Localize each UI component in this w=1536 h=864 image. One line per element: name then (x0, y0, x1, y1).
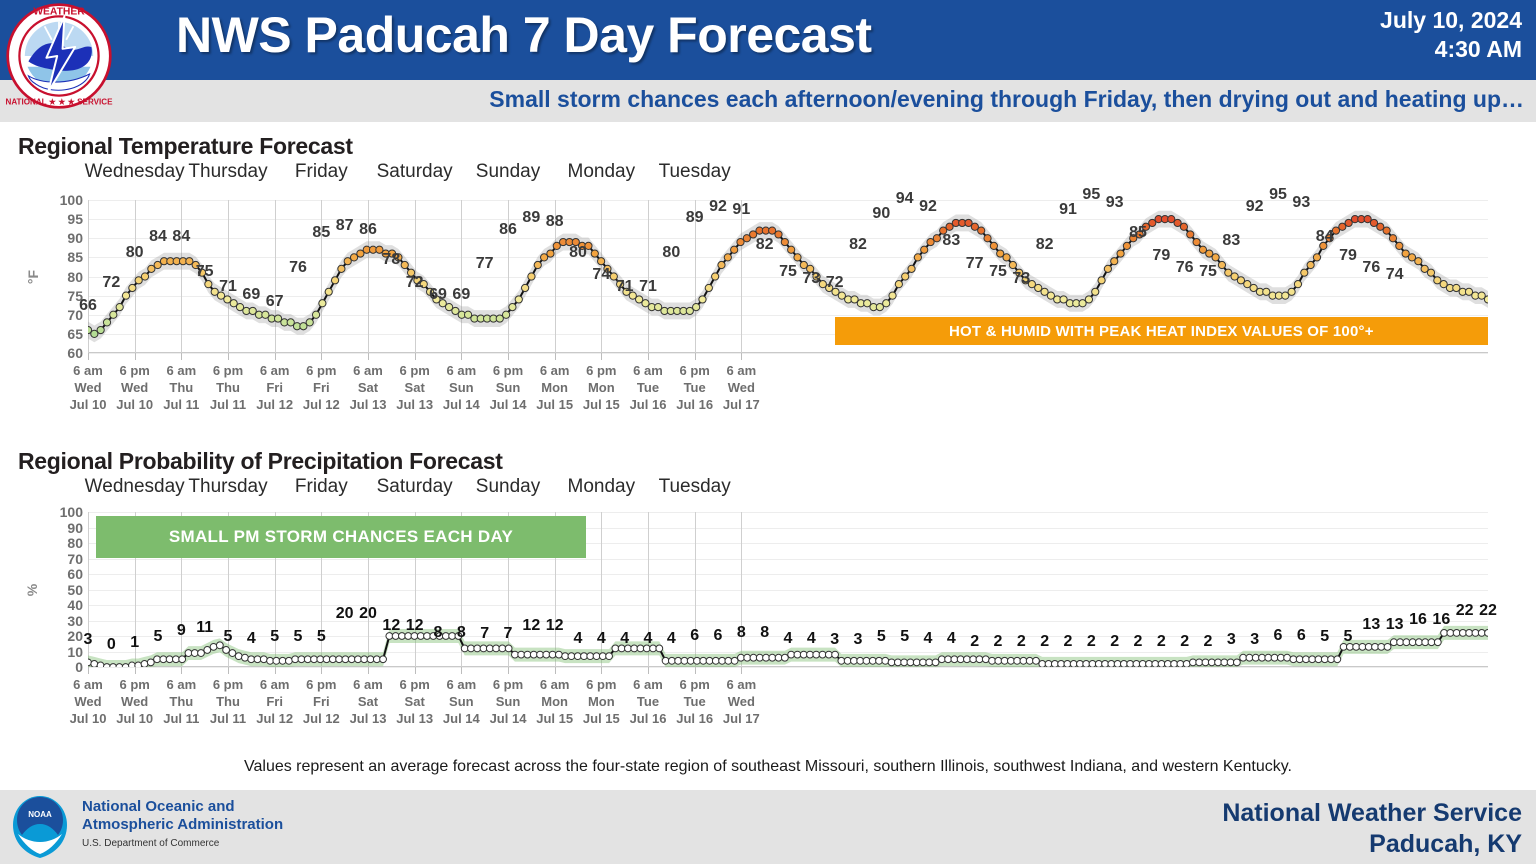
data-point (1098, 277, 1105, 284)
x-axis-tick-mark (181, 353, 182, 360)
data-point (229, 650, 236, 657)
data-point-label: 3 (830, 631, 839, 649)
data-point-label: 94 (896, 190, 914, 208)
data-point (1218, 261, 1225, 268)
x-tick-date: Jul 12 (256, 396, 293, 413)
x-axis-tick-mark (181, 667, 182, 674)
x-tick-date: Jul 17 (723, 396, 760, 413)
footnote: Values represent an average forecast acr… (0, 758, 1536, 776)
data-point-label: 91 (1059, 201, 1077, 219)
data-point-label: 69 (429, 286, 447, 304)
data-point-label: 76 (289, 259, 307, 277)
x-tick-day: Mon (536, 379, 573, 396)
data-point-label: 1 (130, 634, 139, 652)
data-point (242, 654, 249, 661)
data-point (204, 647, 211, 654)
data-point (731, 246, 738, 253)
x-tick-time: 6 pm (396, 362, 433, 379)
x-tick-date: Jul 15 (536, 396, 573, 413)
data-point-label: 89 (686, 209, 704, 227)
x-axis-tick-label: 6 pmSunJul 14 (490, 362, 527, 413)
data-point (528, 273, 535, 280)
data-point (116, 664, 123, 667)
y-axis-tick: 100 (60, 192, 83, 208)
x-tick-time: 6 pm (116, 676, 153, 693)
data-point (1070, 661, 1077, 668)
heat-advisory-banner: HOT & HUMID WITH PEAK HEAT INDEX VALUES … (835, 317, 1488, 345)
x-tick-time: 6 am (163, 676, 199, 693)
day-label-wednesday: Wednesday (85, 161, 185, 183)
data-point (1484, 296, 1488, 303)
data-point-label: 85 (1129, 224, 1147, 242)
data-point-label: 8 (760, 624, 769, 642)
data-point-label: 77 (966, 255, 984, 273)
x-tick-day: Mon (583, 379, 620, 396)
data-point (216, 642, 223, 649)
data-point-label: 5 (294, 628, 303, 646)
data-point-label: 92 (919, 198, 937, 216)
data-point-label: 83 (942, 232, 960, 250)
data-point (982, 656, 989, 663)
data-point-label: 87 (336, 217, 354, 235)
data-point (110, 664, 117, 667)
data-point (1415, 258, 1422, 265)
x-axis-tick-mark (601, 667, 602, 674)
x-axis-tick-mark (415, 353, 416, 360)
data-point (103, 664, 110, 667)
day-label-sunday: Sunday (476, 476, 540, 498)
y-axis-unit-label: % (24, 583, 40, 595)
data-point (122, 664, 129, 667)
data-point (555, 651, 562, 658)
data-point (984, 235, 991, 242)
x-axis-tick-mark (695, 667, 696, 674)
data-point-label: 20 (359, 605, 377, 623)
x-tick-day: Sat (396, 693, 433, 710)
x-tick-date: Jul 14 (443, 710, 480, 727)
data-point (1092, 288, 1099, 295)
data-point-label: 2 (1204, 633, 1213, 651)
x-tick-day: Wed (116, 693, 153, 710)
data-point (1102, 661, 1109, 668)
data-point-label: 89 (522, 209, 540, 227)
data-point (1111, 258, 1118, 265)
data-point-label: 16 (1409, 611, 1427, 629)
x-tick-date: Jul 11 (210, 710, 246, 727)
data-point-label: 4 (247, 630, 256, 648)
day-label-friday: Friday (295, 476, 348, 498)
nws-office-line-2: Paducah, KY (1222, 829, 1522, 860)
x-axis-tick-mark (321, 667, 322, 674)
x-tick-date: Jul 15 (536, 710, 573, 727)
x-tick-day: Tue (676, 379, 713, 396)
data-point (223, 647, 230, 654)
x-axis-tick-label: 6 amSunJul 14 (443, 362, 480, 413)
data-point (978, 227, 985, 234)
data-point-label: 74 (592, 266, 610, 284)
data-point (1313, 254, 1320, 261)
data-point-label: 92 (1246, 198, 1264, 216)
data-point-label: 86 (499, 221, 517, 239)
data-point-label: 5 (224, 628, 233, 646)
data-point (914, 254, 921, 261)
temperature-chart-title: Regional Temperature Forecast (18, 133, 353, 160)
x-axis-tick-label: 6 amSunJul 14 (443, 676, 480, 727)
day-label-monday: Monday (568, 161, 636, 183)
y-axis-tick: 85 (67, 249, 83, 265)
precipitation-chart-title: Regional Probability of Precipitation Fo… (18, 448, 503, 475)
data-point-label: 72 (826, 274, 844, 292)
data-point-label: 80 (569, 244, 587, 262)
x-axis-tick-label: 6 amWedJul 17 (723, 676, 760, 727)
x-axis-tick-label: 6 amTueJul 16 (630, 362, 667, 413)
data-point (1123, 242, 1130, 249)
x-tick-date: Jul 17 (723, 710, 760, 727)
data-point-label: 5 (154, 628, 163, 646)
data-point (135, 662, 142, 667)
y-axis-tick: 30 (67, 613, 83, 629)
data-point-label: 22 (1456, 602, 1474, 620)
data-point-label: 78 (382, 251, 400, 269)
y-axis-tick: 90 (67, 230, 83, 246)
data-point-label: 69 (242, 286, 260, 304)
x-tick-day: Sat (350, 379, 387, 396)
data-point-label: 93 (1292, 194, 1310, 212)
x-axis-tick-label: 6 amThuJul 11 (163, 676, 199, 727)
x-tick-date: Jul 13 (350, 396, 387, 413)
day-label-monday: Monday (568, 476, 636, 498)
data-point-label: 16 (1432, 611, 1450, 629)
data-point (1396, 242, 1403, 249)
data-point (509, 304, 516, 311)
data-point-label: 79 (1339, 247, 1357, 265)
noaa-line-1: National Oceanic and (82, 798, 283, 816)
x-tick-date: Jul 16 (676, 710, 713, 727)
data-point (775, 231, 782, 238)
data-point (515, 296, 522, 303)
data-point-label: 3 (854, 631, 863, 649)
x-tick-time: 6 am (723, 676, 760, 693)
data-point (198, 650, 205, 657)
x-tick-day: Sun (490, 693, 527, 710)
y-axis-tick: 95 (67, 211, 83, 227)
data-point-label: 71 (219, 278, 237, 296)
data-point (331, 277, 338, 284)
data-point-label: 69 (452, 286, 470, 304)
data-point (1389, 235, 1396, 242)
x-axis-tick-mark (275, 667, 276, 674)
data-point-label: 88 (546, 213, 564, 231)
data-point (285, 657, 292, 664)
data-point (147, 659, 154, 666)
data-point (1045, 661, 1052, 668)
x-tick-time: 6 pm (490, 362, 527, 379)
noaa-line-3: U.S. Department of Commerce (82, 838, 283, 850)
data-point (129, 284, 136, 291)
y-axis-tick: 10 (67, 644, 83, 660)
data-point (1183, 661, 1190, 668)
data-point (1009, 261, 1016, 268)
data-point (97, 326, 104, 333)
x-tick-time: 6 am (536, 362, 573, 379)
day-label-thursday: Thursday (188, 161, 267, 183)
data-point-label: 73 (1012, 270, 1030, 288)
data-point-label: 71 (616, 278, 634, 296)
data-point (705, 284, 712, 291)
x-axis-tick-label: 6 pmFriJul 12 (303, 676, 340, 727)
data-point (1146, 661, 1153, 668)
x-axis-tick-mark (648, 667, 649, 674)
x-tick-date: Jul 15 (583, 710, 620, 727)
x-tick-day: Mon (536, 693, 573, 710)
page-header: NWS Paducah 7 Day Forecast July 10, 2024… (0, 0, 1536, 80)
y-axis-unit-label: °F (25, 269, 41, 283)
x-tick-time: 6 am (443, 362, 480, 379)
data-point-label: 5 (270, 628, 279, 646)
data-point (1334, 656, 1341, 663)
data-point (1383, 227, 1390, 234)
data-point (889, 292, 896, 299)
x-axis-tick-label: 6 pmWedJul 10 (116, 676, 153, 727)
x-tick-day: Fri (303, 693, 340, 710)
data-point-label: 85 (312, 224, 330, 242)
y-axis-tick: 70 (67, 551, 83, 567)
svg-text:NATIONAL ★ ★ ★ SERVICE: NATIONAL ★ ★ ★ SERVICE (5, 98, 113, 107)
data-point-label: 2 (1134, 633, 1143, 651)
data-point-label: 95 (1082, 186, 1100, 204)
data-point (921, 246, 928, 253)
x-axis-tick-mark (275, 353, 276, 360)
data-point (1114, 661, 1121, 668)
data-point-label: 75 (196, 263, 214, 281)
x-tick-time: 6 am (630, 362, 667, 379)
data-point (1177, 661, 1184, 668)
data-point-label: 82 (849, 236, 867, 254)
data-point (699, 296, 706, 303)
x-tick-date: Jul 10 (116, 396, 153, 413)
y-axis-tick: 0 (75, 659, 83, 675)
data-point (1058, 661, 1065, 668)
data-point (319, 300, 326, 307)
headline-text: Small storm chances each afternoon/eveni… (489, 86, 1524, 113)
data-point (724, 254, 731, 261)
data-point (606, 653, 613, 660)
data-point-label: 5 (900, 628, 909, 646)
data-point-label: 2 (1064, 633, 1073, 651)
storm-chance-banner: SMALL PM STORM CHANCES EACH DAY (96, 516, 586, 558)
noaa-line-2: Atmospheric Administration (82, 816, 283, 834)
data-point-label: 75 (989, 263, 1007, 281)
x-axis-tick-mark (368, 353, 369, 360)
nws-office-line-1: National Weather Service (1222, 798, 1522, 829)
data-point (781, 238, 788, 245)
x-tick-time: 6 am (70, 362, 107, 379)
data-point (235, 653, 242, 660)
data-point-label: 8 (737, 624, 746, 642)
data-point-label: 2 (994, 633, 1003, 651)
data-point-label: 12 (406, 617, 424, 635)
x-tick-date: Jul 14 (490, 396, 527, 413)
data-point (505, 645, 512, 652)
x-tick-day: Wed (70, 379, 107, 396)
x-tick-day: Sun (443, 693, 480, 710)
day-label-sunday: Sunday (476, 161, 540, 183)
data-point (1288, 288, 1295, 295)
gridline-horizontal (88, 667, 1488, 668)
x-axis-tick-mark (88, 667, 89, 674)
day-label-tuesday: Tuesday (659, 476, 731, 498)
y-axis-tick: 100 (60, 504, 83, 520)
data-point (794, 254, 801, 261)
x-axis-tick-label: 6 amMonJul 15 (536, 362, 573, 413)
data-point-label: 2 (1017, 633, 1026, 651)
y-axis-tick: 80 (67, 535, 83, 551)
data-point-label: 6 (1297, 627, 1306, 645)
data-point (1233, 659, 1240, 666)
x-tick-day: Thu (210, 693, 246, 710)
data-point-label: 80 (662, 244, 680, 262)
data-point (1307, 261, 1314, 268)
x-tick-time: 6 pm (210, 676, 246, 693)
data-point-label: 77 (476, 255, 494, 273)
x-tick-time: 6 am (350, 362, 387, 379)
data-point-label: 71 (639, 278, 657, 296)
x-axis-tick-label: 6 amWedJul 10 (70, 676, 107, 727)
data-point-label: 76 (1176, 259, 1194, 277)
x-axis-tick-mark (88, 353, 89, 360)
x-tick-date: Jul 12 (256, 710, 293, 727)
data-point-label: 75 (1199, 263, 1217, 281)
x-tick-day: Tue (630, 693, 667, 710)
data-point-label: 82 (756, 236, 774, 254)
y-axis-tick: 50 (67, 582, 83, 598)
data-point (110, 311, 117, 318)
data-point-label: 3 (84, 631, 93, 649)
x-axis-tick-label: 6 pmThuJul 11 (210, 676, 246, 727)
x-tick-time: 6 pm (303, 676, 340, 693)
x-tick-time: 6 pm (490, 676, 527, 693)
headline-bar: Small storm chances each afternoon/eveni… (0, 80, 1536, 122)
x-tick-date: Jul 10 (70, 710, 107, 727)
x-tick-day: Thu (163, 693, 199, 710)
x-tick-day: Fri (303, 379, 340, 396)
data-point (122, 292, 129, 299)
data-point-label: 9 (177, 622, 186, 640)
data-point-label: 2 (1157, 633, 1166, 651)
data-point (1434, 639, 1441, 646)
x-axis-tick-label: 6 pmMonJul 15 (583, 676, 620, 727)
x-axis-tick-mark (741, 353, 742, 360)
data-point (781, 654, 788, 661)
data-point (1384, 643, 1391, 650)
x-axis-tick-label: 6 amWedJul 10 (70, 362, 107, 413)
y-axis-tick: 20 (67, 628, 83, 644)
data-point-label: 4 (620, 630, 629, 648)
x-axis-tick-label: 6 pmWedJul 10 (116, 362, 153, 413)
data-point (788, 246, 795, 253)
x-tick-time: 6 am (536, 676, 573, 693)
day-label-saturday: Saturday (377, 476, 453, 498)
x-tick-date: Jul 10 (116, 710, 153, 727)
data-point-label: 4 (667, 630, 676, 648)
x-axis-tick-label: 6 amWedJul 17 (723, 362, 760, 413)
noaa-agency-text: National Oceanic and Atmospheric Adminis… (82, 798, 283, 850)
data-point (591, 250, 598, 257)
data-point (1089, 661, 1096, 668)
data-point-label: 12 (522, 617, 540, 635)
y-axis-tick: 40 (67, 597, 83, 613)
x-tick-date: Jul 13 (396, 396, 433, 413)
x-tick-time: 6 pm (116, 362, 153, 379)
data-point-label: 6 (690, 627, 699, 645)
day-label-thursday: Thursday (188, 476, 267, 498)
data-point (210, 643, 217, 650)
x-tick-day: Sat (396, 379, 433, 396)
data-point (1180, 223, 1187, 230)
data-point (832, 651, 839, 658)
x-axis-tick-label: 6 amSatJul 13 (350, 362, 387, 413)
data-point-label: 84 (149, 228, 167, 246)
data-point-label: 2 (1087, 633, 1096, 651)
x-axis-tick-mark (508, 667, 509, 674)
x-axis-tick-label: 6 pmTueJul 16 (676, 676, 713, 727)
x-axis-tick-mark (228, 667, 229, 674)
data-point-label: 84 (172, 228, 190, 246)
x-axis-tick-mark (321, 353, 322, 360)
page-title: NWS Paducah 7 Day Forecast (176, 6, 872, 64)
x-tick-date: Jul 12 (303, 710, 340, 727)
data-point-label: 73 (802, 270, 820, 288)
data-point-label: 4 (644, 630, 653, 648)
x-axis-tick-mark (555, 667, 556, 674)
x-axis-tick-mark (135, 353, 136, 360)
data-point (908, 265, 915, 272)
data-point (1033, 657, 1040, 664)
x-axis-tick-label: 6 amSatJul 13 (350, 676, 387, 727)
gridline-horizontal (88, 353, 1488, 354)
x-tick-day: Tue (630, 379, 667, 396)
issuance-date: July 10, 2024 (1380, 6, 1522, 35)
data-point (1158, 661, 1165, 668)
data-point (1164, 661, 1171, 668)
x-tick-day: Sat (350, 693, 387, 710)
data-point (598, 258, 605, 265)
x-axis-tick-mark (555, 353, 556, 360)
svg-text:WEATHER: WEATHER (33, 7, 85, 18)
data-point (534, 261, 541, 268)
x-tick-time: 6 am (256, 362, 293, 379)
x-axis-tick-label: 6 pmMonJul 15 (583, 362, 620, 413)
x-tick-day: Wed (723, 693, 760, 710)
x-axis-tick-mark (648, 353, 649, 360)
data-point-label: 20 (336, 605, 354, 623)
data-point-label: 84 (1316, 228, 1334, 246)
data-point (116, 304, 123, 311)
data-point-label: 13 (1362, 616, 1380, 634)
x-tick-date: Jul 14 (490, 710, 527, 727)
data-point (1120, 661, 1127, 668)
data-point (1152, 661, 1159, 668)
data-point (306, 319, 313, 326)
y-axis-tick: 60 (67, 345, 83, 361)
data-point (1051, 661, 1058, 668)
x-tick-day: Sun (443, 379, 480, 396)
data-point (91, 661, 98, 668)
data-point-label: 22 (1479, 602, 1497, 620)
nws-office-text: National Weather Service Paducah, KY (1222, 798, 1522, 859)
data-point (731, 657, 738, 664)
data-point-label: 4 (784, 630, 793, 648)
